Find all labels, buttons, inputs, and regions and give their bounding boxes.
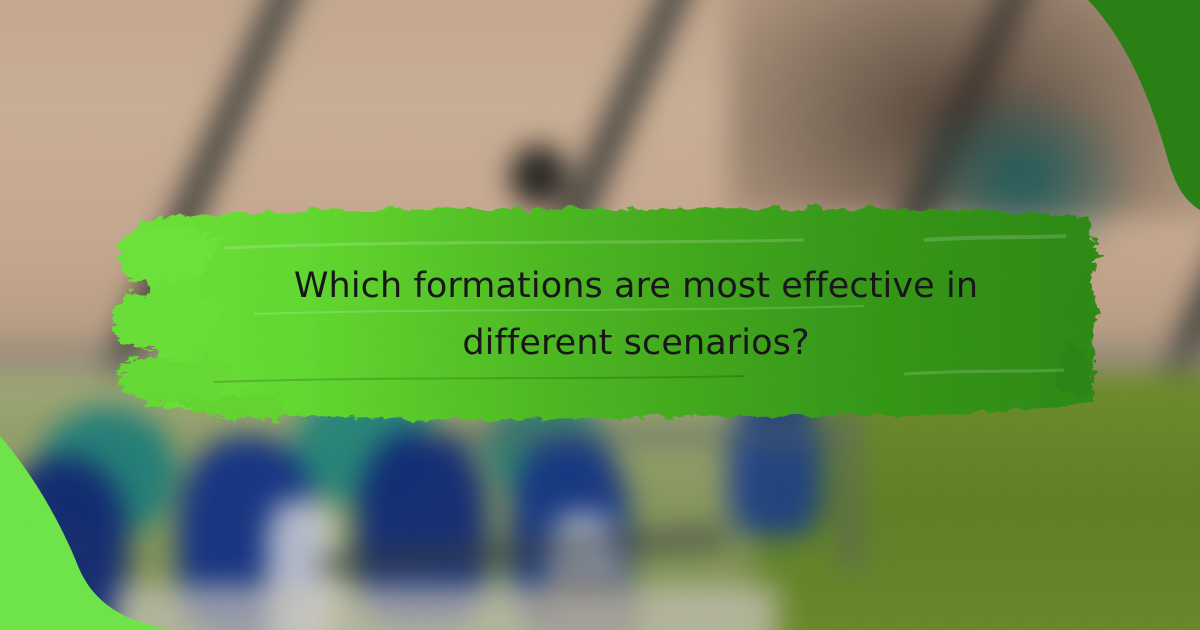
leaf-swoosh-bottom-left-icon <box>0 400 175 630</box>
ground-surface <box>114 585 780 630</box>
headline-line-1: Which formations are most effective in <box>294 258 978 315</box>
share-card: Which formations are most effective in d… <box>0 0 1200 630</box>
leaf-swoosh-top-right-icon <box>1030 0 1200 210</box>
headline-line-2: different scenarios? <box>462 315 809 372</box>
headline: Which formations are most effective in d… <box>104 196 1104 434</box>
